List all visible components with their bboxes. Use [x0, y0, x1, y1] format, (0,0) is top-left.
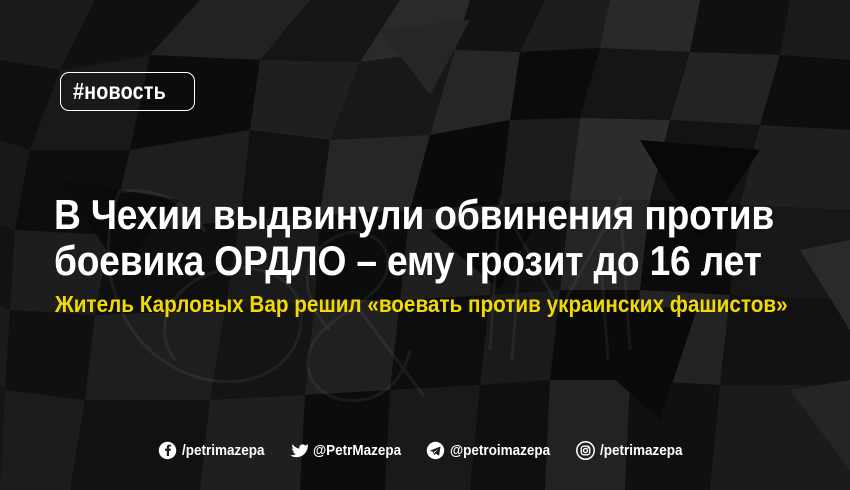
card-content: #новость В Чехии выдвинули обвинения про…: [0, 0, 850, 490]
headline: В Чехии выдвинули обвинения против боеви…: [54, 192, 754, 284]
hashtag-badge[interactable]: #новость: [60, 72, 195, 111]
social-link-twitter[interactable]: @PetrMazepa: [289, 441, 411, 460]
facebook-icon: [158, 441, 177, 460]
news-card: #новость В Чехии выдвинули обвинения про…: [0, 0, 850, 490]
social-handle-twitter: @PetrMazepa: [313, 443, 401, 458]
headline-line-1: В Чехии выдвинули обвинения против: [54, 192, 674, 238]
instagram-icon: [576, 441, 595, 460]
twitter-icon: [289, 441, 308, 460]
subtitle: Житель Карловых Вар решил «воевать проти…: [55, 291, 788, 318]
telegram-icon: [426, 441, 445, 460]
social-link-telegram[interactable]: @petroimazepa: [426, 441, 561, 460]
social-link-facebook[interactable]: /petrimazepa: [158, 441, 274, 460]
social-handle-facebook: /petrimazepa: [182, 443, 265, 458]
social-links-bar: /petrimazepa @PetrMazepa @petroimazepa: [0, 436, 850, 464]
social-link-instagram[interactable]: /petrimazepa: [576, 441, 692, 460]
hashtag-badge-label: #новость: [73, 80, 166, 103]
social-handle-telegram: @petroimazepa: [450, 443, 550, 458]
headline-line-2: боевика ОРДЛО – ему грозит до 16 лет: [54, 238, 674, 284]
social-handle-instagram: /petrimazepa: [600, 443, 683, 458]
